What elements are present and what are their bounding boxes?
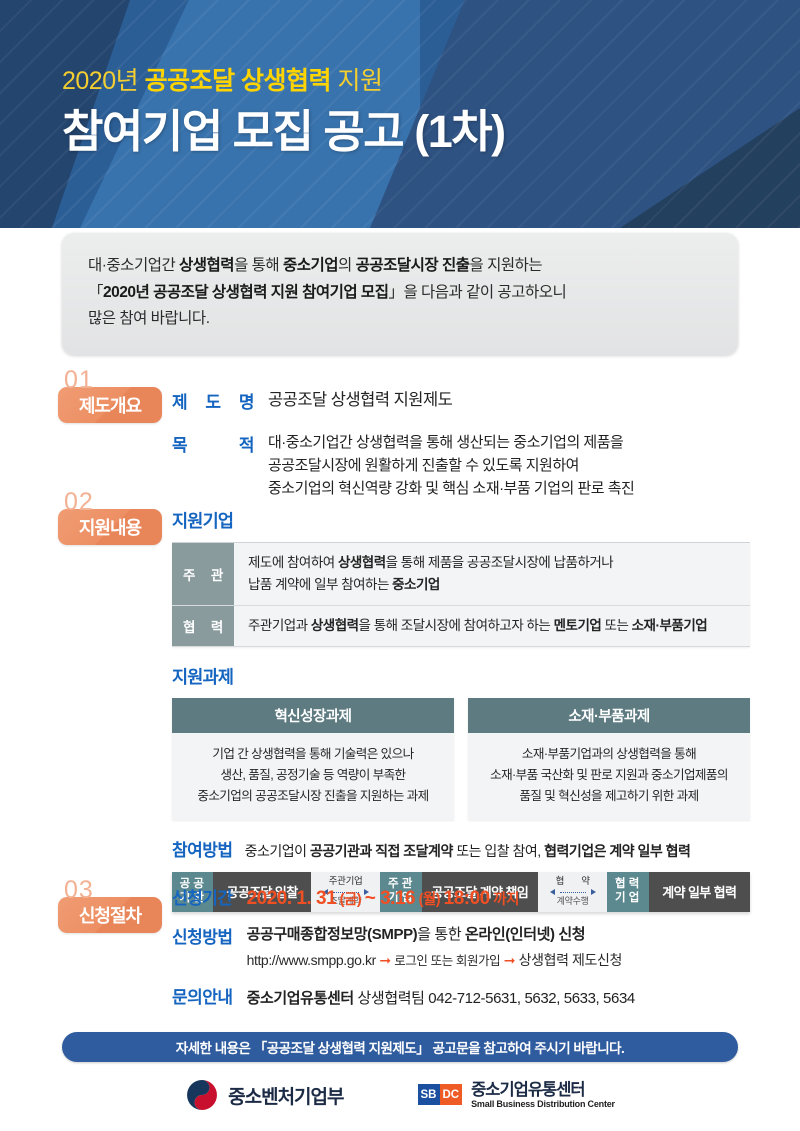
contact-row: 문의안내 중소기업유통센터 상생협력팀 042-712-5631, 5632, … xyxy=(172,983,635,1008)
logo-sbdc-korean: 중소기업유통센터 xyxy=(471,1081,615,1099)
contact-label: 문의안내 xyxy=(172,983,233,1008)
section-badge-2: 02 지원내용 xyxy=(58,492,166,545)
purpose-values: 대·중소기업간 상생협력을 통해 생산되는 중소기업의 제품을 공공조달시장에 … xyxy=(268,431,634,501)
section1-content: 제도명 공공조달 상생협력 지원제도 목적 대·중소기업간 상생협력을 통해 생… xyxy=(172,388,634,500)
system-name-row: 제도명 공공조달 상생협력 지원제도 xyxy=(172,388,634,414)
logo-sbdc: SB DC 중소기업유통센터 Small Business Distributi… xyxy=(418,1081,615,1110)
footer-logos: 중소벤처기업부 SB DC 중소기업유통센터 Small Business Di… xyxy=(0,1078,800,1112)
header-title: 참여기업 모집 공고 (1차) xyxy=(62,106,505,158)
task-card-line: 기업 간 상생협력을 통해 기술력은 있으나 xyxy=(180,744,446,765)
table-row-value: 주관기업과 상생협력을 통해 조달시장에 참여하고자 하는 멘토기업 또는 소재… xyxy=(234,606,750,646)
logo-sbdc-english: Small Business Distribution Center xyxy=(471,1099,615,1109)
contact-value: 중소기업유통센터 상생협력팀 042-712-5631, 5632, 5633,… xyxy=(247,987,635,1008)
application-period-row: 신청기간 2020. 1. 31 (금) ~ 3.16 (월) 18:00 까지 xyxy=(172,884,635,910)
poster-header: 2020년 공공조달 상생협력 지원 참여기업 모집 공고 (1차) xyxy=(0,0,800,228)
support-company-table: 주관 제도에 참여하여 상생협력을 통해 제품을 공공조달시장에 납품하거나 납… xyxy=(172,542,750,647)
support-task-heading: 지원과제 xyxy=(172,664,750,689)
purpose-line-2: 공공조달시장에 원활하게 진출할 수 있도록 지원하여 xyxy=(268,454,634,477)
section3-content: 신청기간 2020. 1. 31 (금) ~ 3.16 (월) 18:00 까지… xyxy=(172,884,635,1008)
intro-box: 대·중소기업간 상생협력을 통해 중소기업의 공공조달시장 진출을 지원하는 「… xyxy=(62,233,738,355)
poster-root: 2020년 공공조달 상생협력 지원 참여기업 모집 공고 (1차) 대·중소기… xyxy=(0,0,800,1131)
participation-method-row: 참여방법 중소기업이 공공기관과 직접 조달계약 또는 입찰 참여, 협력기업은… xyxy=(172,836,750,863)
flow-action-partial-cooperation: 계약 일부 협력 xyxy=(649,872,750,912)
table-row-value: 제도에 참여하여 상생협력을 통해 제품을 공공조달시장에 납품하거나 납품 계… xyxy=(234,543,750,605)
application-step-2: 상생협력 제도신청 xyxy=(519,952,622,968)
support-company-heading: 지원기업 xyxy=(172,508,750,533)
application-url: http://www.smpp.go.kr xyxy=(247,952,376,968)
header-subtitle-emphasis: 공공조달 상생협력 xyxy=(145,67,331,95)
table-cell-line-2: 납품 계약에 일부 참여하는 중소기업 xyxy=(248,574,736,596)
table-cell-line-1: 제도에 참여하여 상생협력을 통해 제품을 공공조달시장에 납품하거나 xyxy=(248,552,736,574)
intro-line-3: 많은 참여 바랍니다. xyxy=(88,306,712,333)
section2-content: 지원기업 주관 제도에 참여하여 상생협력을 통해 제품을 공공조달시장에 납품… xyxy=(172,508,750,912)
header-text-block: 2020년 공공조달 상생협력 지원 참여기업 모집 공고 (1차) xyxy=(62,68,505,157)
taegeuk-icon xyxy=(185,1078,219,1112)
arrow-right-icon: ➞ xyxy=(504,952,515,968)
task-card-title: 혁신성장과제 xyxy=(172,698,454,733)
table-row-label: 주관 xyxy=(172,543,234,605)
task-card-line: 품질 및 혁신성을 제고하기 위한 과제 xyxy=(476,786,742,807)
footer-banner-text: 자세한 내용은 「공공조달 상생협력 지원제도」 공고문을 참고하여 주시기 바… xyxy=(176,1037,625,1057)
participation-method-text: 중소기업이 공공기관과 직접 조달계약 또는 입찰 참여, 협력기업은 계약 일… xyxy=(245,841,691,863)
application-period-label: 신청기간 xyxy=(172,884,233,909)
section-badge-label-1: 제도개요 xyxy=(79,392,141,418)
purpose-line-1: 대·중소기업간 상생협력을 통해 생산되는 중소기업의 제품을 xyxy=(268,431,634,454)
table-row: 협력 주관기업과 상생협력을 통해 조달시장에 참여하고자 하는 멘토기업 또는… xyxy=(172,606,750,647)
system-name-label: 제도명 xyxy=(172,388,254,413)
task-card: 소재·부품과제 소재·부품기업과의 상생협력을 통해 소재·부품 국산화 및 판… xyxy=(468,698,750,820)
table-row: 주관 제도에 참여하여 상생협력을 통해 제품을 공공조달시장에 납품하거나 납… xyxy=(172,543,750,606)
purpose-row: 목적 대·중소기업간 상생협력을 통해 생산되는 중소기업의 제품을 공공조달시… xyxy=(172,431,634,501)
application-method-label: 신청방법 xyxy=(172,923,233,948)
logo-mss: 중소벤처기업부 xyxy=(185,1078,343,1112)
section-badge-label-2: 지원내용 xyxy=(79,514,141,540)
application-method-row: 신청방법 공공구매종합정보망(SMPP)을 통한 온라인(인터넷) 신청 htt… xyxy=(172,923,635,970)
purpose-line-3: 중소기업의 혁신역량 강화 및 핵심 소재·부품 기업의 판로 촉진 xyxy=(268,477,634,500)
task-card-body: 기업 간 상생협력을 통해 기술력은 있으나 생산, 품질, 공정기술 등 역량… xyxy=(172,733,454,820)
section-badge-label-3: 신청절차 xyxy=(79,902,141,928)
task-card-line: 중소기업의 공공조달시장 진출을 지원하는 과제 xyxy=(180,786,446,807)
table-row-label: 협력 xyxy=(172,606,234,646)
purpose-label: 목적 xyxy=(172,431,254,456)
application-step-1: 로그인 또는 회원가입 xyxy=(394,954,500,968)
sbdc-mark-icon: SB DC xyxy=(418,1084,463,1105)
task-card-line: 소재·부품 국산화 및 판로 지원과 중소기업제품의 xyxy=(476,765,742,786)
header-subtitle: 2020년 공공조달 상생협력 지원 xyxy=(62,68,505,96)
section-badge-3: 03 신청절차 xyxy=(58,880,166,933)
task-card-title: 소재·부품과제 xyxy=(468,698,750,733)
application-method-steps: http://www.smpp.go.kr ➞ 로그인 또는 회원가입 ➞ 상생… xyxy=(247,950,622,970)
application-method-values: 공공구매종합정보망(SMPP)을 통한 온라인(인터넷) 신청 http://w… xyxy=(247,923,622,970)
application-period-value: 2020. 1. 31 (금) ~ 3.16 (월) 18:00 까지 xyxy=(247,888,519,910)
logo-sbdc-text: 중소기업유통센터 Small Business Distribution Cen… xyxy=(471,1081,615,1110)
footer-banner: 자세한 내용은 「공공조달 상생협력 지원제도」 공고문을 참고하여 주시기 바… xyxy=(62,1032,738,1062)
header-subtitle-year: 2020년 xyxy=(62,67,145,95)
sbdc-mark-sb: SB xyxy=(418,1084,440,1105)
header-subtitle-suffix: 지원 xyxy=(331,67,382,95)
task-card-line: 소재·부품기업과의 상생협력을 통해 xyxy=(476,744,742,765)
arrow-right-icon: ➞ xyxy=(379,952,390,968)
task-card: 혁신성장과제 기업 간 상생협력을 통해 기술력은 있으나 생산, 품질, 공정… xyxy=(172,698,454,820)
table-cell-line-1: 주관기업과 상생협력을 통해 조달시장에 참여하고자 하는 멘토기업 또는 소재… xyxy=(248,615,736,637)
intro-line-1: 대·중소기업간 상생협력을 통해 중소기업의 공공조달시장 진출을 지원하는 xyxy=(88,253,712,280)
application-method-line-1: 공공구매종합정보망(SMPP)을 통한 온라인(인터넷) 신청 xyxy=(247,923,622,944)
task-card-body: 소재·부품기업과의 상생협력을 통해 소재·부품 국산화 및 판로 지원과 중소… xyxy=(468,733,750,820)
intro-line-2: 「2020년 공공조달 상생협력 지원 참여기업 모집」을 다음과 같이 공고하… xyxy=(88,280,712,307)
task-cards: 혁신성장과제 기업 간 상생협력을 통해 기술력은 있으나 생산, 품질, 공정… xyxy=(172,698,750,820)
task-card-line: 생산, 품질, 공정기술 등 역량이 부족한 xyxy=(180,765,446,786)
participation-method-label: 참여방법 xyxy=(172,836,233,861)
logo-mss-text: 중소벤처기업부 xyxy=(228,1082,343,1109)
section-badge-1: 01 제도개요 xyxy=(58,370,166,423)
system-name-value: 공공조달 상생협력 지원제도 xyxy=(268,388,452,414)
sbdc-mark-dc: DC xyxy=(440,1084,463,1105)
